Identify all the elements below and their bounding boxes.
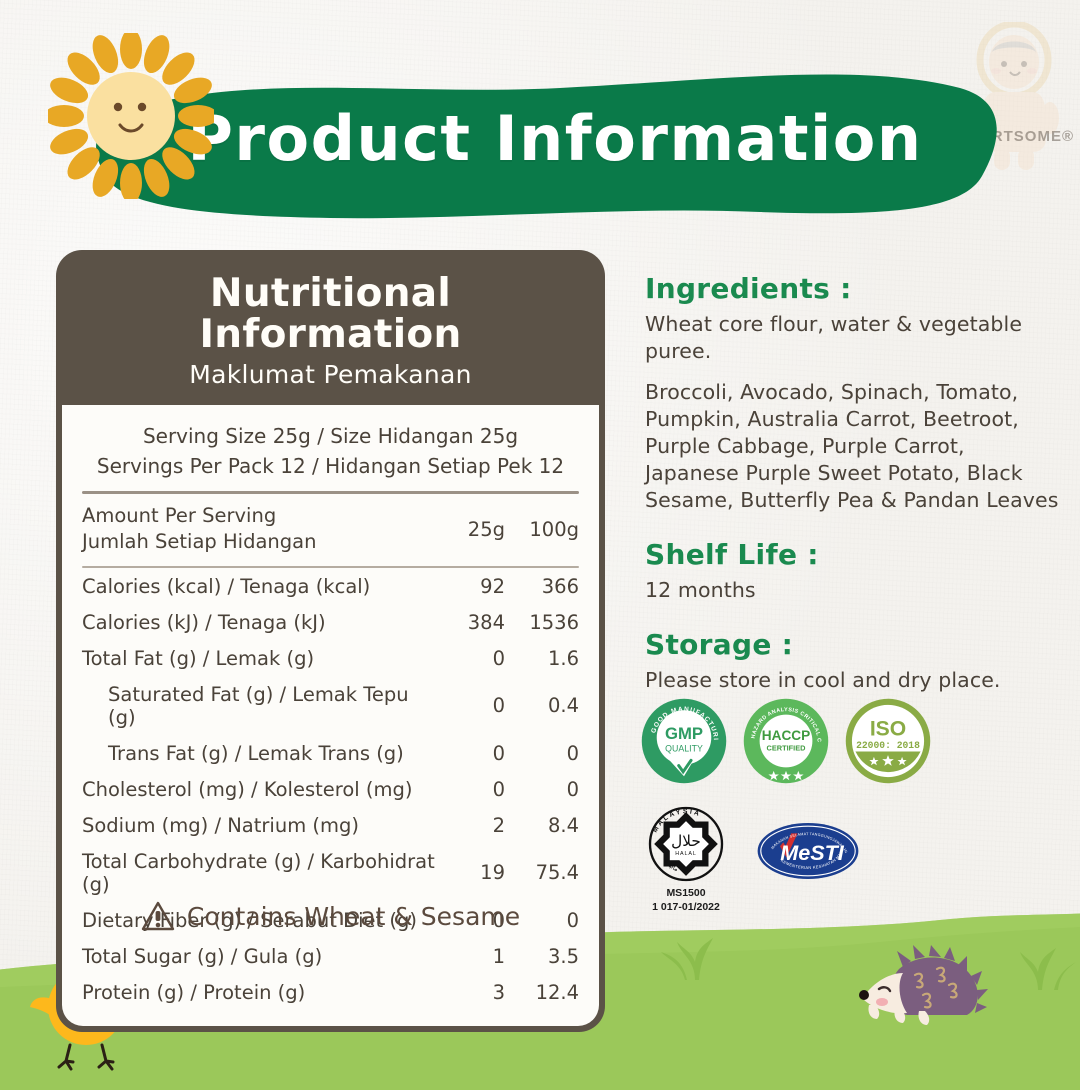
nutrient-label: Total Fat (g) / Lemak (g): [82, 640, 439, 676]
table-row: Trans Fat (g) / Lemak Trans (g)00: [82, 735, 579, 771]
table-row: Total Carbohydrate (g) / Karbohidrat (g)…: [82, 843, 579, 902]
nutrient-value-per-100g: 0.4: [505, 676, 579, 735]
allergen-text: Contains Wheat & Sesame: [187, 902, 520, 931]
nutrient-label: Calories (kJ) / Tenaga (kJ): [82, 604, 439, 640]
nutrient-value-per-100g: 1.6: [505, 640, 579, 676]
table-row: Cholesterol (mg) / Kolesterol (mg)00: [82, 771, 579, 807]
nutrient-value-per-serving: 1: [439, 938, 505, 974]
nutrient-value-per-100g: 366: [505, 568, 579, 604]
svg-text:QUALITY: QUALITY: [665, 744, 703, 754]
halal-malaysia-badge-icon: حلال HALAL MALAYSIA ماليزيا: [641, 806, 731, 882]
amount-per-serving-header-table: Amount Per Serving Jumlah Setiap Hidanga…: [82, 494, 579, 566]
servings-per-pack-line: Servings Per Pack 12 / Hidangan Setiap P…: [82, 451, 579, 481]
table-row-amount-header: Amount Per Serving Jumlah Setiap Hidanga…: [82, 494, 579, 566]
nutrient-value-per-100g: 0: [505, 735, 579, 771]
nutrient-value-per-serving: 0: [439, 676, 505, 735]
shelf-life-value: 12 months: [645, 577, 1065, 604]
svg-text:حلال: حلال: [671, 832, 701, 850]
nutrient-value-per-serving: 0: [439, 771, 505, 807]
table-row: Saturated Fat (g) / Lemak Tepu (g)00.4: [82, 676, 579, 735]
storage-heading: Storage :: [645, 628, 1065, 661]
column-header-25g: 25g: [439, 494, 505, 566]
nutrient-label: Protein (g) / Protein (g): [82, 974, 439, 1010]
serving-info: Serving Size 25g / Size Hidangan 25g Ser…: [82, 419, 579, 491]
nutrient-value-per-100g: 75.4: [505, 843, 579, 902]
table-row: Protein (g) / Protein (g)312.4: [82, 974, 579, 1010]
nutrient-label: Sodium (mg) / Natrium (mg): [82, 807, 439, 843]
halal-caption-line2: 1 017-01/2022: [640, 901, 732, 914]
nutrient-value-per-100g: 3.5: [505, 938, 579, 974]
amount-label-cell: Amount Per Serving Jumlah Setiap Hidanga…: [82, 494, 439, 566]
halal-badge-group: حلال HALAL MALAYSIA ماليزيا MS1500 1 017…: [640, 806, 732, 914]
nutrient-value-per-serving: 19: [439, 843, 505, 902]
nutrient-value-per-serving: 384: [439, 604, 505, 640]
svg-text:22000: 2018: 22000: 2018: [856, 740, 920, 751]
nutrient-value-per-serving: 92: [439, 568, 505, 604]
sunflower-smiling-icon: [48, 33, 214, 199]
nutrient-value-per-serving: 0: [439, 640, 505, 676]
nutrient-label: Total Sugar (g) / Gula (g): [82, 938, 439, 974]
nutrient-value-per-serving: 2: [439, 807, 505, 843]
allergen-warning: Contains Wheat & Sesame: [56, 900, 605, 932]
ingredients-vegetables: Broccoli, Avocado, Spinach, Tomato, Pump…: [645, 379, 1065, 514]
nutrient-label: Saturated Fat (g) / Lemak Tepu (g): [82, 676, 439, 735]
nutrient-value-per-100g: 0: [505, 771, 579, 807]
gmp-quality-badge-icon: GMP QUALITY GOOD MANUFACTURING PRACTICE: [640, 697, 728, 785]
product-info-column: Ingredients : Wheat core flour, water & …: [645, 272, 1065, 694]
grass-bush-icon: [655, 930, 735, 980]
nutrient-label: Cholesterol (mg) / Kolesterol (mg): [82, 771, 439, 807]
ingredients-primary: Wheat core flour, water & vegetable pure…: [645, 311, 1065, 365]
table-row: Sodium (mg) / Natrium (mg)28.4: [82, 807, 579, 843]
nutrient-value-per-100g: 8.4: [505, 807, 579, 843]
storage-value: Please store in cool and dry place.: [645, 667, 1065, 694]
nutrition-title-ms: Maklumat Pemakanan: [72, 360, 589, 389]
svg-text:ISO: ISO: [870, 718, 906, 741]
ingredients-heading: Ingredients :: [645, 272, 1065, 305]
iso-22000-badge-icon: ISO 22000: 2018: [844, 697, 932, 785]
nutrient-value-per-serving: 0: [439, 735, 505, 771]
nutrient-label: Calories (kcal) / Tenaga (kcal): [82, 568, 439, 604]
nutrient-value-per-serving: 3: [439, 974, 505, 1010]
table-row: Calories (kJ) / Tenaga (kJ)3841536: [82, 604, 579, 640]
serving-size-line: Serving Size 25g / Size Hidangan 25g: [82, 421, 579, 451]
grass-bush-icon: [1000, 938, 1078, 990]
certification-badges-row-1: GMP QUALITY GOOD MANUFACTURING PRACTICE …: [640, 697, 932, 785]
nutrition-values-table: Calories (kcal) / Tenaga (kcal)92366Calo…: [82, 568, 579, 1010]
nutrient-value-per-100g: 12.4: [505, 974, 579, 1010]
mesti-badge-icon: MeSTI MAKANAN SELAMAT TANGGUNGJAWAB INDU…: [756, 822, 860, 880]
shelf-life-heading: Shelf Life :: [645, 538, 1065, 571]
nutrition-card-header: Nutritional Information Maklumat Pemakan…: [62, 256, 599, 405]
certification-badges-row-2: حلال HALAL MALAYSIA ماليزيا MS1500 1 017…: [640, 806, 860, 914]
warning-triangle-icon: [141, 900, 175, 932]
haccp-certified-badge-icon: HACCP CERTIFIED HAZARD ANALYSIS CRITICAL…: [742, 697, 830, 785]
amount-label-en: Amount Per Serving: [82, 503, 439, 529]
nutrient-value-per-100g: 1536: [505, 604, 579, 640]
svg-text:HACCP: HACCP: [762, 728, 810, 743]
hedgehog-icon: [845, 945, 990, 1040]
nutrition-table-body: Serving Size 25g / Size Hidangan 25g Ser…: [62, 405, 599, 1026]
svg-text:HALAL: HALAL: [675, 851, 697, 857]
table-row: Total Fat (g) / Lemak (g)01.6: [82, 640, 579, 676]
svg-text:GMP: GMP: [665, 724, 703, 743]
nutrient-label: Total Carbohydrate (g) / Karbohidrat (g): [82, 843, 439, 902]
table-row: Total Sugar (g) / Gula (g)13.5: [82, 938, 579, 974]
nutrition-title-en: Nutritional Information: [72, 274, 589, 356]
column-header-100g: 100g: [505, 494, 579, 566]
amount-label-ms: Jumlah Setiap Hidangan: [82, 529, 439, 555]
svg-text:CERTIFIED: CERTIFIED: [767, 744, 807, 753]
table-row: Calories (kcal) / Tenaga (kcal)92366: [82, 568, 579, 604]
nutrient-label: Trans Fat (g) / Lemak Trans (g): [82, 735, 439, 771]
halal-caption-line1: MS1500: [640, 887, 732, 900]
